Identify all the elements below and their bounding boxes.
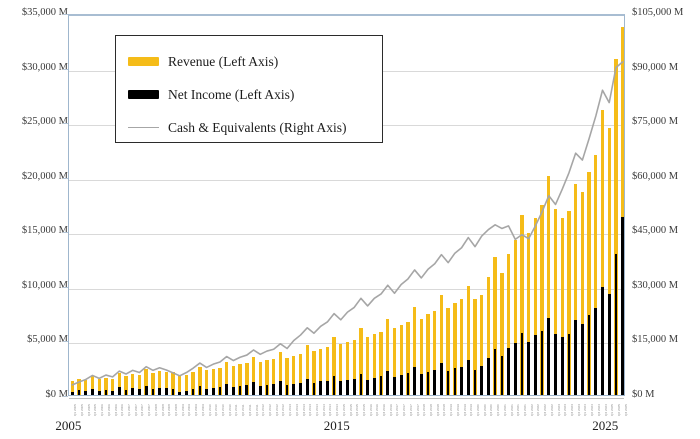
legend-item-cash: Cash & Equivalents (Right Axis) <box>128 111 370 144</box>
left-axis-tick-label: $30,000 M <box>22 63 68 73</box>
x-axis-quarter-label: Q2 2016 <box>375 404 379 416</box>
x-axis-quarter-label: Q3 2007 <box>140 404 144 416</box>
x-axis-quarter-label: Q1 2018 <box>422 404 426 416</box>
x-axis-quarter-label: Q1 2012 <box>261 404 265 416</box>
x-axis-quarter-label: Q1 2020 <box>476 404 480 416</box>
right-axis-tick-label: $15,000 M <box>632 335 678 345</box>
net-income-swatch-icon <box>128 90 159 99</box>
x-axis-quarter-label: Q1 2016 <box>369 404 373 416</box>
x-axis-year-label: 2015 <box>324 418 350 434</box>
x-axis-quarter-label: Q2 2014 <box>322 404 326 416</box>
x-axis-quarter-label: Q4 2009 <box>201 404 205 416</box>
x-axis-quarter-label: Q2 2009 <box>187 404 191 416</box>
x-axis-quarter-label: Q1 2024 <box>583 404 587 416</box>
x-axis-quarter-label: Q1 2014 <box>315 404 319 416</box>
x-axis-quarter-label: Q2 2024 <box>590 404 594 416</box>
x-axis-quarter-label: Q2 2019 <box>456 404 460 416</box>
x-axis-quarter-label: Q3 2021 <box>516 404 520 416</box>
cash-line-swatch-icon <box>128 127 159 128</box>
x-axis-quarter-label: Q3 2024 <box>597 404 601 416</box>
x-axis-quarter-label: Q4 2018 <box>442 404 446 416</box>
revenue-swatch-icon <box>128 57 159 66</box>
left-axis-tick-label: $5,000 M <box>27 335 68 345</box>
x-axis-quarter-label: Q2 2021 <box>510 404 514 416</box>
x-axis-quarter-label: Q1 2007 <box>127 404 131 416</box>
x-axis-quarter-label: Q4 2012 <box>281 404 285 416</box>
right-axis-tick-label: $90,000 M <box>632 63 678 73</box>
legend-item-revenue: Revenue (Left Axis) <box>128 45 370 78</box>
x-axis-quarter-label: Q1 2025 <box>610 404 614 416</box>
x-axis-quarter-label: Q3 2018 <box>436 404 440 416</box>
x-axis-quarter-label: Q3 2022 <box>543 404 547 416</box>
x-axis-quarter-label: Q1 2013 <box>288 404 292 416</box>
x-axis-quarter-label: Q4 2013 <box>308 404 312 416</box>
x-axis-quarter-label: Q1 2008 <box>154 404 158 416</box>
x-axis-quarter-label: Q1 2005 <box>73 404 77 416</box>
x-axis-quarter-label: Q3 2006 <box>114 404 118 416</box>
legend-label-revenue: Revenue (Left Axis) <box>168 54 278 70</box>
x-axis-quarter-labels: Q1 2005Q2 2005Q3 2005Q4 2005Q1 2006Q2 20… <box>68 397 625 417</box>
x-axis-quarter-label: Q4 2019 <box>469 404 473 416</box>
x-axis-quarter-label: Q4 2005 <box>93 404 97 416</box>
x-axis-quarter-label: Q1 2021 <box>503 404 507 416</box>
x-axis-quarter-label: Q1 2009 <box>181 404 185 416</box>
x-axis-quarter-label: Q2 2020 <box>483 404 487 416</box>
right-axis-tick-label: $60,000 M <box>632 172 678 182</box>
right-axis-tick-label: $75,000 M <box>632 117 678 127</box>
x-axis-quarter-label: Q4 2022 <box>550 404 554 416</box>
x-axis-quarter-label: Q2 2010 <box>214 404 218 416</box>
x-axis-quarter-label: Q3 2012 <box>275 404 279 416</box>
left-axis-tick-label: $35,000 M <box>22 8 68 18</box>
x-axis-quarter-label: Q1 2022 <box>530 404 534 416</box>
x-axis-quarter-label: Q4 2016 <box>389 404 393 416</box>
x-axis-quarter-label: Q3 2023 <box>570 404 574 416</box>
x-axis-quarter-label: Q3 2010 <box>221 404 225 416</box>
chart-legend: Revenue (Left Axis) Net Income (Left Axi… <box>115 35 383 143</box>
x-axis-quarter-label: Q3 2020 <box>489 404 493 416</box>
x-axis-quarter-label: Q2 2012 <box>268 404 272 416</box>
right-axis-tick-label: $30,000 M <box>632 281 678 291</box>
x-axis-quarter-label: Q2 2005 <box>80 404 84 416</box>
x-axis-quarter-label: Q3 2013 <box>302 404 306 416</box>
x-axis-quarter-label: Q2 2022 <box>536 404 540 416</box>
x-axis-quarter-label: Q2 2006 <box>107 404 111 416</box>
x-axis-quarter-label: Q2 2025 <box>617 404 621 416</box>
left-axis-tick-label: $0 M <box>46 390 68 400</box>
x-axis-quarter-label: Q4 2020 <box>496 404 500 416</box>
x-axis-quarter-label: Q4 2014 <box>335 404 339 416</box>
x-axis-quarter-label: Q4 2015 <box>362 404 366 416</box>
stock-financials-chart: $0 M$5,000 M$10,000 M$15,000 M$20,000 M$… <box>0 0 700 439</box>
x-axis-quarter-label: Q3 2011 <box>248 404 252 416</box>
x-axis-quarter-label: Q4 2010 <box>228 404 232 416</box>
x-axis-quarter-label: Q3 2019 <box>463 404 467 416</box>
x-axis-quarter-label: Q3 2008 <box>167 404 171 416</box>
x-axis-quarter-label: Q2 2018 <box>429 404 433 416</box>
x-axis-quarter-label: Q2 2015 <box>349 404 353 416</box>
x-axis-quarter-label: Q2 2008 <box>161 404 165 416</box>
x-axis-quarter-label: Q2 2013 <box>295 404 299 416</box>
x-axis-quarter-label: Q3 2005 <box>87 404 91 416</box>
right-axis-tick-label: $45,000 M <box>632 226 678 236</box>
x-axis-quarter-label: Q4 2023 <box>577 404 581 416</box>
x-axis-quarter-label: Q4 2007 <box>147 404 151 416</box>
legend-label-net-income: Net Income (Left Axis) <box>168 87 294 103</box>
x-axis-quarter-label: Q4 2021 <box>523 404 527 416</box>
left-axis-tick-label: $10,000 M <box>22 281 68 291</box>
x-axis-quarter-label: Q1 2006 <box>100 404 104 416</box>
x-axis-year-label: 2005 <box>55 418 81 434</box>
x-axis-quarter-label: Q1 2023 <box>557 404 561 416</box>
x-axis-quarter-label: Q3 2014 <box>328 404 332 416</box>
x-axis-quarter-label: Q2 2007 <box>134 404 138 416</box>
x-axis-quarter-label: Q4 2011 <box>255 404 259 416</box>
x-axis-quarter-label: Q3 2009 <box>194 404 198 416</box>
x-axis-quarter-label: Q1 2019 <box>449 404 453 416</box>
x-axis-quarter-label: Q3 2015 <box>355 404 359 416</box>
left-axis-tick-label: $20,000 M <box>22 172 68 182</box>
left-axis-tick-label: $25,000 M <box>22 117 68 127</box>
x-axis-quarter-label: Q2 2017 <box>402 404 406 416</box>
x-axis-quarter-label: Q4 2024 <box>604 404 608 416</box>
x-axis-quarter-label: Q4 2017 <box>416 404 420 416</box>
right-axis-tick-label: $0 M <box>632 390 654 400</box>
x-axis-quarter-label: Q1 2015 <box>342 404 346 416</box>
x-axis-quarter-label: Q1 2017 <box>395 404 399 416</box>
x-axis-quarter-label: Q2 2011 <box>241 404 245 416</box>
x-axis-quarter-label: Q3 2016 <box>382 404 386 416</box>
right-axis-tick-label: $105,000 M <box>632 8 683 18</box>
x-axis-quarter-label: Q3 2025 <box>624 404 628 416</box>
x-axis-quarter-label: Q3 2017 <box>409 404 413 416</box>
legend-item-net-income: Net Income (Left Axis) <box>128 78 370 111</box>
x-axis-quarter-label: Q4 2008 <box>174 404 178 416</box>
x-axis-quarter-label: Q4 2006 <box>120 404 124 416</box>
x-axis-year-label: 2025 <box>592 418 618 434</box>
x-axis-quarter-label: Q2 2023 <box>563 404 567 416</box>
legend-label-cash: Cash & Equivalents (Right Axis) <box>168 120 347 136</box>
left-axis-tick-label: $15,000 M <box>22 226 68 236</box>
x-axis-quarter-label: Q1 2010 <box>208 404 212 416</box>
x-axis-quarter-label: Q1 2011 <box>234 404 238 416</box>
